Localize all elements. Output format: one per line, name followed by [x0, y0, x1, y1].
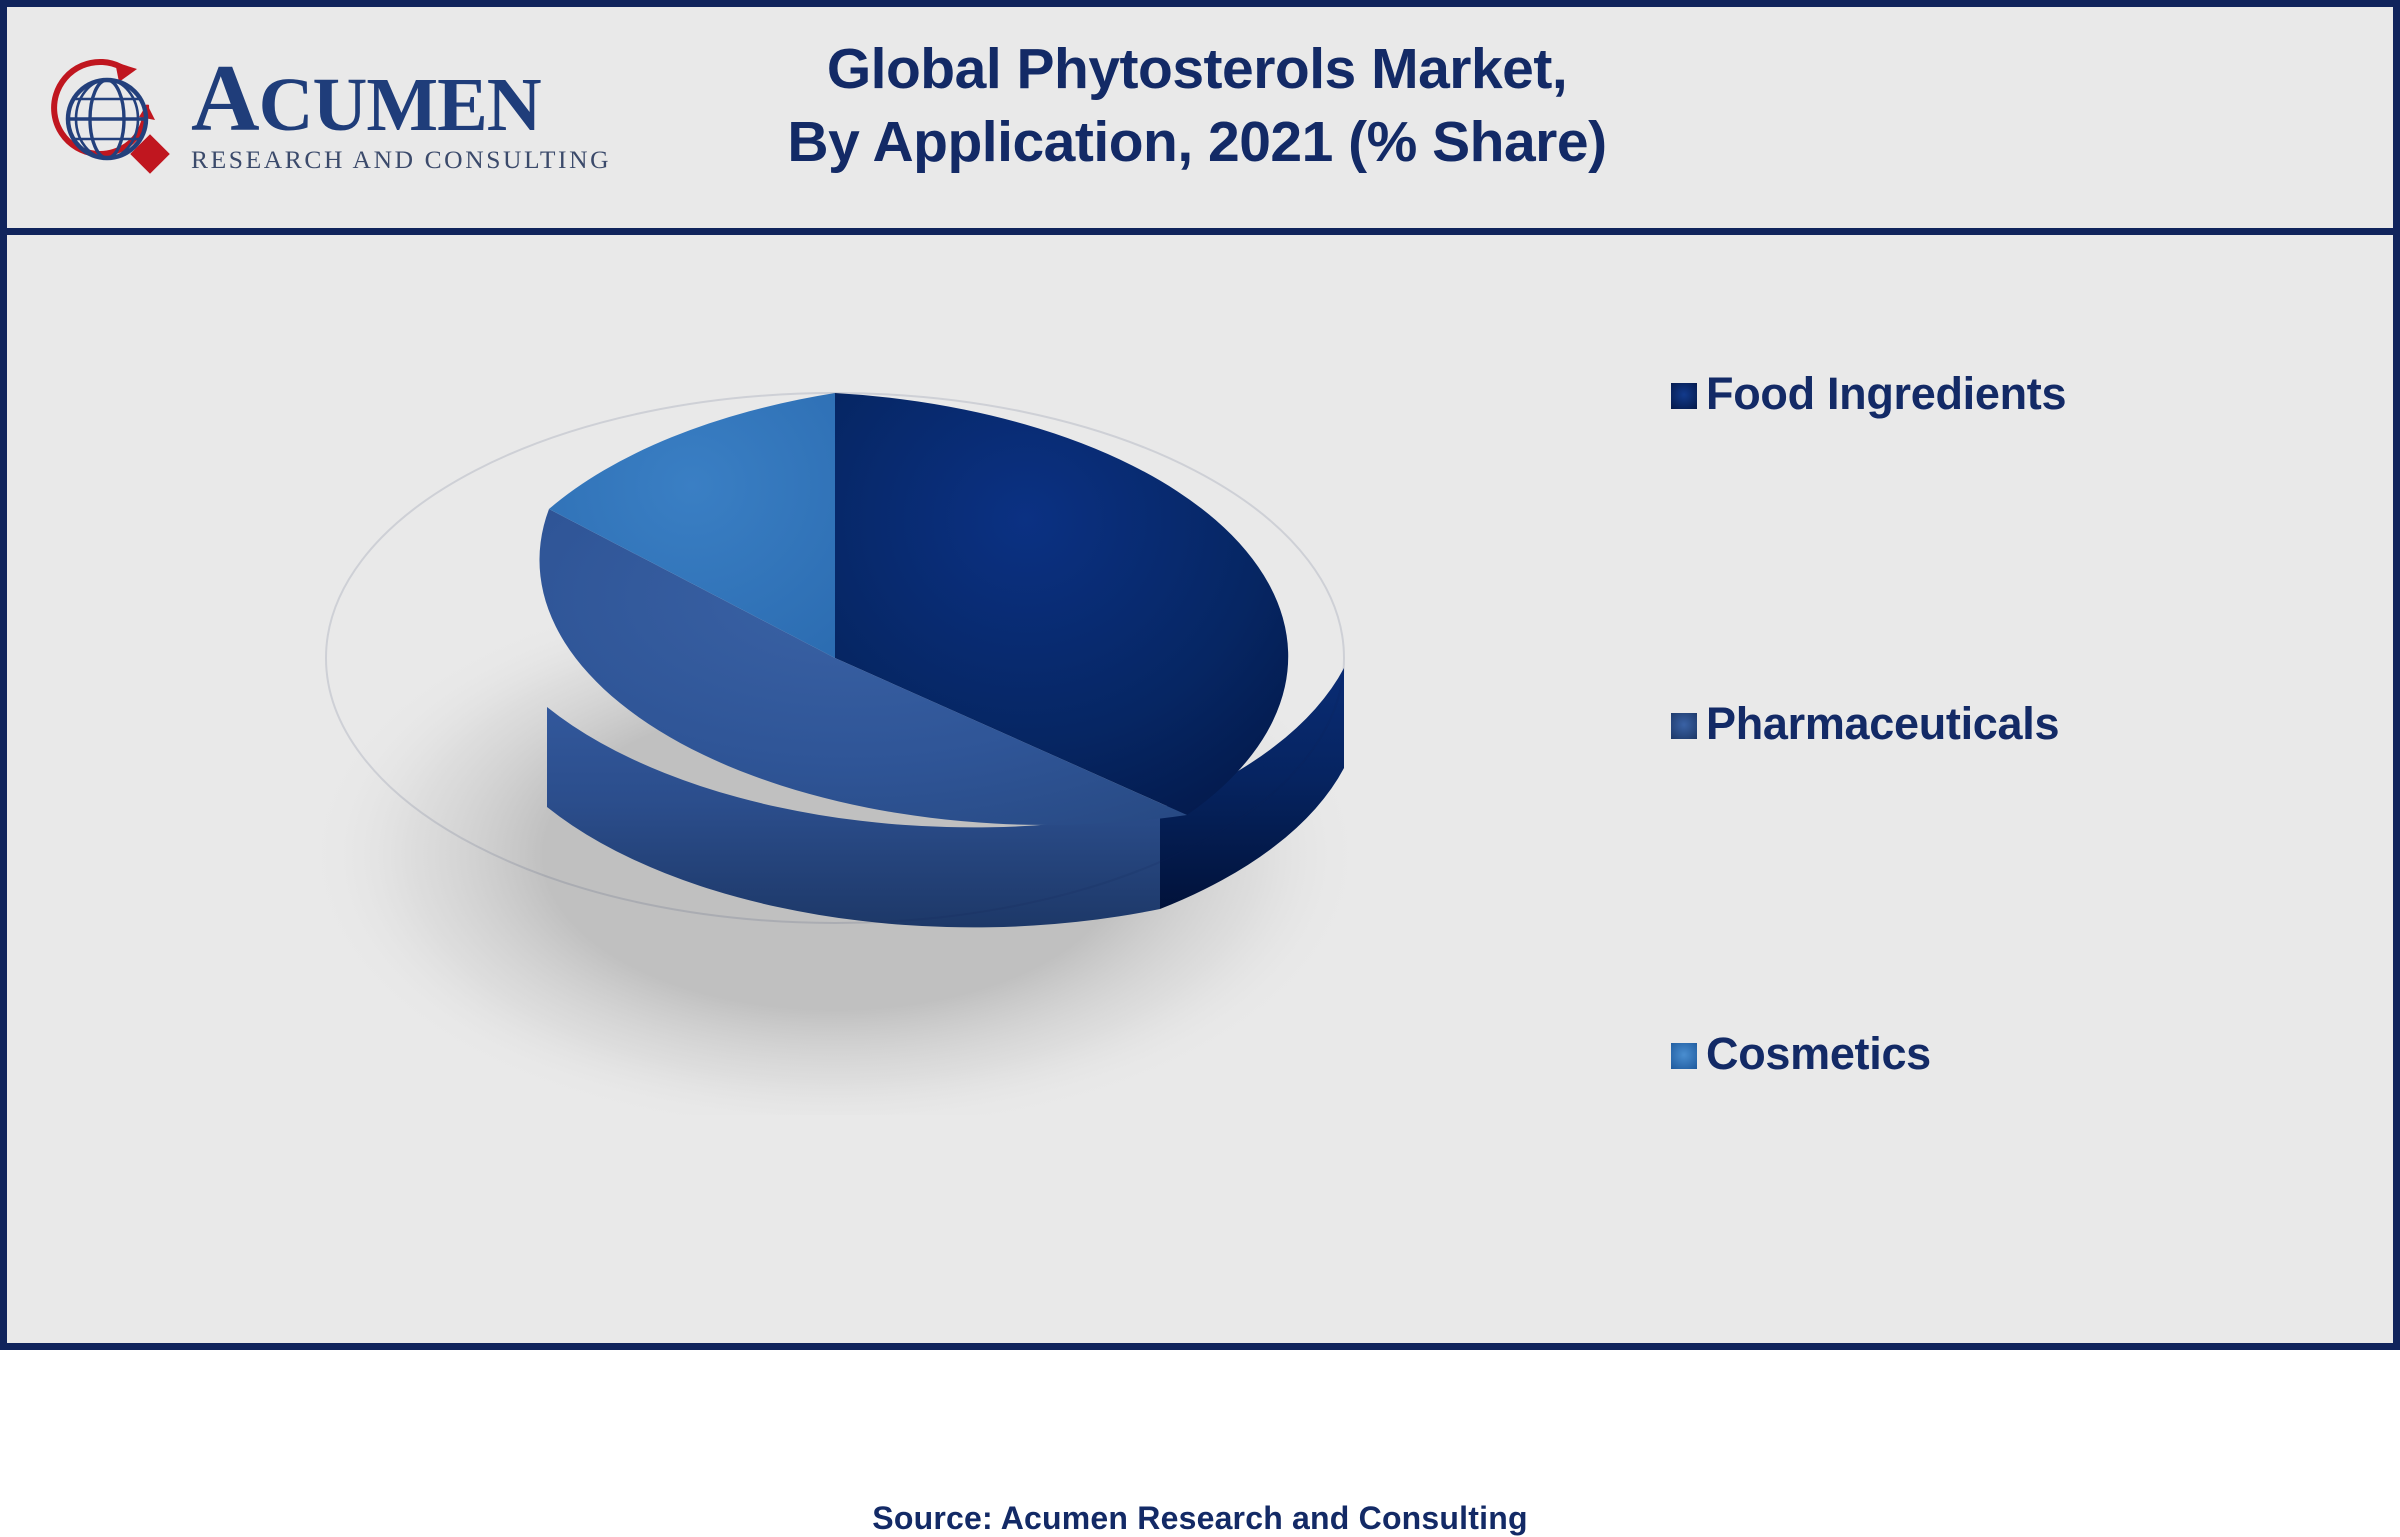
title-line-1: Global Phytosterols Market, [607, 33, 1787, 106]
title-line-2: By Application, 2021 (% Share) [607, 106, 1787, 179]
page-title: Global Phytosterols Market, By Applicati… [607, 33, 1787, 179]
legend-label-food-ingredients: Food Ingredients [1706, 370, 2066, 418]
chart-legend: Food Ingredients Pharmaceuticals [1671, 370, 2371, 1130]
header-divider [7, 228, 2393, 235]
legend-item-cosmetics[interactable]: Cosmetics [1671, 1030, 1931, 1078]
wordmark-initial: A [191, 45, 259, 151]
source-caption: Source: Acumen Research and Consulting [7, 1500, 2393, 1537]
acumen-wordmark: ACUMEN RESEARCH AND CONSULTING [191, 59, 571, 174]
pie-chart-svg [187, 355, 1487, 1115]
legend-swatch-cosmetics-icon [1671, 1043, 1697, 1069]
wordmark-text: ACUMEN [191, 59, 571, 144]
legend-label-pharmaceuticals: Pharmaceuticals [1706, 700, 2059, 748]
pie-chart [187, 355, 1487, 1115]
infographic-canvas: ACUMEN RESEARCH AND CONSULTING Global Ph… [0, 0, 2400, 1350]
acumen-logo: ACUMEN RESEARCH AND CONSULTING [51, 55, 571, 185]
legend-swatch-food-ingredients-icon [1671, 383, 1697, 409]
legend-item-food-ingredients[interactable]: Food Ingredients [1671, 370, 2066, 418]
wordmark-tagline: RESEARCH AND CONSULTING [191, 146, 571, 174]
legend-item-pharmaceuticals[interactable]: Pharmaceuticals [1671, 700, 2059, 748]
legend-label-cosmetics: Cosmetics [1706, 1030, 1931, 1078]
chart-area: Food Ingredients Pharmaceuticals [7, 235, 2393, 1350]
wordmark-rest: CUMEN [259, 63, 541, 147]
globe-icon [51, 57, 179, 185]
legend-swatch-pharmaceuticals-icon [1671, 713, 1697, 739]
header-bar: ACUMEN RESEARCH AND CONSULTING Global Ph… [7, 7, 2393, 228]
